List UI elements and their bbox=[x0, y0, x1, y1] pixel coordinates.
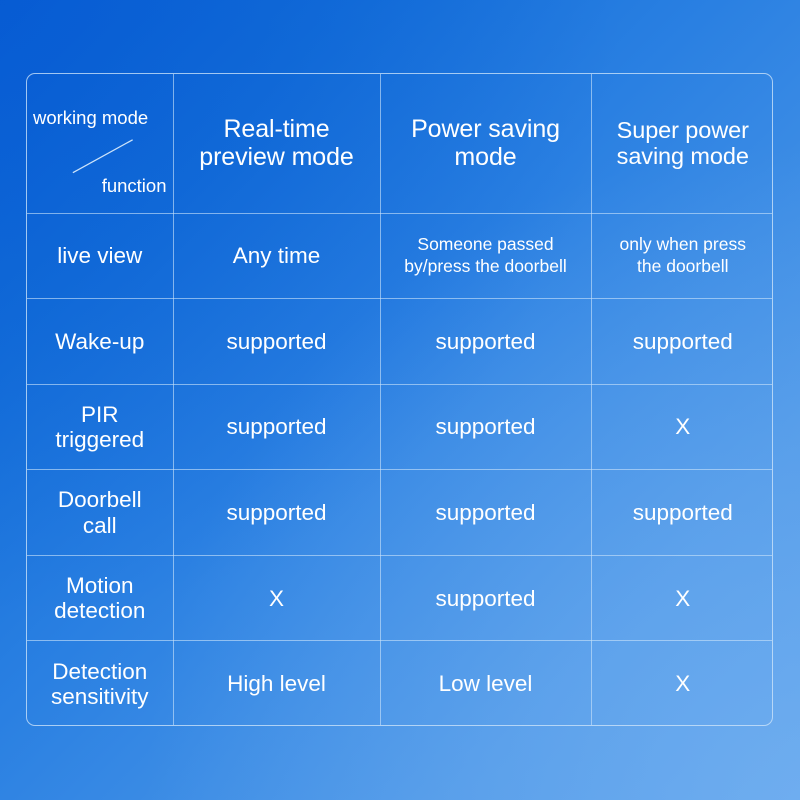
cell-text-line1: supported bbox=[180, 329, 374, 354]
cell-motion-detection-super-power-saving: X bbox=[591, 555, 773, 641]
column-header-realtime: Real-time preview mode bbox=[173, 74, 380, 213]
cell-text-line1: only when press bbox=[598, 234, 769, 255]
cell-detection-sensitivity-super-power-saving: X bbox=[591, 641, 773, 726]
cell-doorbell-call-realtime: supported bbox=[173, 470, 380, 556]
corner-function-label: function bbox=[31, 176, 167, 197]
column-header-power-saving-line2: mode bbox=[387, 143, 585, 171]
row-label-motion-detection-line1: Motion bbox=[33, 573, 167, 598]
cell-pir-triggered-power-saving: supported bbox=[380, 384, 591, 470]
cell-pir-triggered-realtime: supported bbox=[173, 384, 380, 470]
row-label-pir-triggered-line2: triggered bbox=[33, 427, 167, 452]
row-label-pir-triggered: PIR triggered bbox=[27, 384, 173, 470]
cell-text-line1: supported bbox=[387, 586, 585, 611]
cell-motion-detection-realtime: X bbox=[173, 555, 380, 641]
column-header-realtime-line2: preview mode bbox=[180, 143, 374, 171]
cell-detection-sensitivity-realtime: High level bbox=[173, 641, 380, 726]
cell-text-line1: X bbox=[598, 586, 769, 611]
cell-text-line2: the doorbell bbox=[598, 256, 769, 277]
row-label-doorbell-call: Doorbell call bbox=[27, 470, 173, 556]
corner-header-cell: working mode function bbox=[27, 74, 173, 213]
cell-text-line1: Someone passed bbox=[387, 234, 585, 255]
comparison-grid: working mode function Real-time preview … bbox=[27, 74, 773, 726]
cell-wake-up-super-power-saving: supported bbox=[591, 299, 773, 385]
row-label-doorbell-call-line2: call bbox=[33, 513, 167, 538]
cell-text-line1: supported bbox=[598, 329, 769, 354]
table-row: live view Any time Someone passed by/pre… bbox=[27, 213, 773, 299]
row-label-live-view: live view bbox=[27, 213, 173, 299]
comparison-table-canvas: working mode function Real-time preview … bbox=[0, 0, 800, 800]
row-label-motion-detection: Motion detection bbox=[27, 555, 173, 641]
cell-doorbell-call-power-saving: supported bbox=[380, 470, 591, 556]
row-label-detection-sensitivity-line1: Detection bbox=[33, 659, 167, 684]
column-header-super-power-saving-line2: saving mode bbox=[598, 143, 769, 169]
table-row: Detection sensitivity High level Low lev… bbox=[27, 641, 773, 726]
cell-text-line1: X bbox=[598, 671, 769, 696]
cell-detection-sensitivity-power-saving: Low level bbox=[380, 641, 591, 726]
cell-live-view-power-saving: Someone passed by/press the doorbell bbox=[380, 213, 591, 299]
column-header-realtime-line1: Real-time bbox=[180, 115, 374, 143]
column-header-super-power-saving-line1: Super power bbox=[598, 117, 769, 143]
cell-live-view-super-power-saving: only when press the doorbell bbox=[591, 213, 773, 299]
cell-pir-triggered-super-power-saving: X bbox=[591, 384, 773, 470]
column-header-power-saving: Power saving mode bbox=[380, 74, 591, 213]
row-label-wake-up: Wake-up bbox=[27, 299, 173, 385]
cell-text-line1: supported bbox=[180, 414, 374, 439]
cell-wake-up-realtime: supported bbox=[173, 299, 380, 385]
cell-text-line1: supported bbox=[598, 500, 769, 525]
corner-working-mode-label: working mode bbox=[33, 108, 171, 129]
row-label-detection-sensitivity: Detection sensitivity bbox=[27, 641, 173, 726]
row-label-live-view-line1: live view bbox=[33, 243, 167, 268]
table-row: Doorbell call supported supported suppor… bbox=[27, 470, 773, 556]
cell-live-view-realtime: Any time bbox=[173, 213, 380, 299]
row-label-motion-detection-line2: detection bbox=[33, 598, 167, 623]
cell-doorbell-call-super-power-saving: supported bbox=[591, 470, 773, 556]
cell-text-line1: supported bbox=[180, 500, 374, 525]
cell-motion-detection-power-saving: supported bbox=[380, 555, 591, 641]
cell-text-line1: Low level bbox=[387, 671, 585, 696]
cell-text-line1: supported bbox=[387, 414, 585, 439]
cell-wake-up-power-saving: supported bbox=[380, 299, 591, 385]
column-header-super-power-saving: Super power saving mode bbox=[591, 74, 773, 213]
cell-text-line1: X bbox=[180, 586, 374, 611]
cell-text-line1: supported bbox=[387, 500, 585, 525]
cell-text-line1: X bbox=[598, 414, 769, 439]
cell-text-line1: High level bbox=[180, 671, 374, 696]
working-mode-comparison-table: working mode function Real-time preview … bbox=[26, 73, 773, 726]
row-label-pir-triggered-line1: PIR bbox=[33, 402, 167, 427]
column-header-power-saving-line1: Power saving bbox=[387, 115, 585, 143]
table-header-row: working mode function Real-time preview … bbox=[27, 74, 773, 213]
cell-text-line1: Any time bbox=[180, 243, 374, 268]
table-row: PIR triggered supported supported X bbox=[27, 384, 773, 470]
row-label-detection-sensitivity-line2: sensitivity bbox=[33, 684, 167, 709]
table-row: Wake-up supported supported supported bbox=[27, 299, 773, 385]
row-label-doorbell-call-line1: Doorbell bbox=[33, 487, 167, 512]
cell-text-line2: by/press the doorbell bbox=[387, 256, 585, 277]
row-label-wake-up-line1: Wake-up bbox=[33, 329, 167, 354]
cell-text-line1: supported bbox=[387, 329, 585, 354]
table-row: Motion detection X supported X bbox=[27, 555, 773, 641]
